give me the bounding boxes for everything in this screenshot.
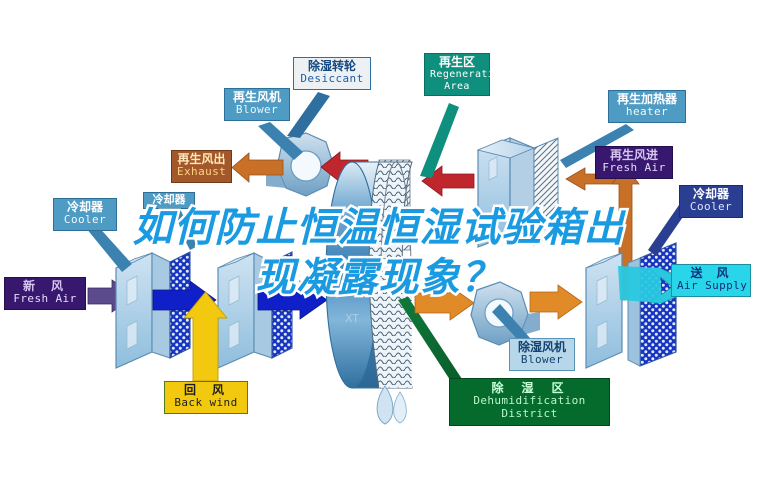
- cooler-unit-3-body: [586, 253, 622, 368]
- callout-regen-fresh-air[interactable]: 再生风进 Fresh Air: [595, 146, 673, 179]
- callout-dehum-district-cn: 除湿区: [454, 382, 605, 395]
- callout-regen-exhaust-cn: 再生风出: [177, 153, 226, 166]
- diagram-canvas: XT: [0, 0, 757, 488]
- regen-heater-unit: [478, 138, 558, 247]
- callout-dehum-blower[interactable]: 除湿风机 Blower: [509, 338, 575, 371]
- callout-dehum-district-en: Dehumidification District: [454, 395, 605, 420]
- callout-cooler-left[interactable]: 冷却器 Cooler: [53, 198, 117, 231]
- callout-desiccant[interactable]: 除湿转轮 Desiccant: [293, 57, 371, 90]
- arrow-dry-air-1: [415, 286, 474, 320]
- callout-back-wind-cn: 回风: [170, 384, 242, 397]
- callout-regen-heater[interactable]: 再生加热器 heater: [608, 90, 686, 123]
- svg-text:XT: XT: [345, 312, 359, 325]
- cooler-unit-3: [628, 243, 676, 366]
- callout-regen-blower[interactable]: 再生风机 Blower: [224, 88, 290, 121]
- callout-back-wind-en: Back wind: [170, 397, 242, 409]
- callout-cooler-left-cn: 冷却器: [59, 201, 111, 214]
- callout-regen-blower-en: Blower: [230, 104, 284, 116]
- callout-regen-area-en: Regeneration Area: [430, 69, 484, 91]
- wheel-dehum-sector: [379, 268, 412, 388]
- callout-regen-heater-cn: 再生加热器: [614, 93, 680, 106]
- condensate-droplet: [377, 386, 406, 424]
- callout-cooler-left-small[interactable]: 冷却器: [143, 192, 195, 209]
- callout-fresh-air-cn: 新风: [10, 280, 80, 293]
- callout-desiccant-en: Desiccant: [299, 73, 365, 85]
- callout-regen-area[interactable]: 再生区 Regeneration Area: [424, 53, 490, 96]
- callout-air-supply-cn: 送风: [677, 267, 745, 280]
- callout-cooler-left-small-cn: 冷却器: [147, 194, 191, 206]
- callout-regen-fresh-air-cn: 再生风进: [601, 149, 667, 162]
- callout-desiccant-cn: 除湿转轮: [299, 60, 365, 73]
- callout-cooler-right-en: Cooler: [685, 201, 737, 213]
- callout-regen-blower-cn: 再生风机: [230, 91, 284, 104]
- callout-dehum-district[interactable]: 除湿区 Dehumidification District: [449, 378, 610, 426]
- callout-dehum-blower-cn: 除湿风机: [515, 341, 569, 354]
- callout-regen-exhaust-en: Exhaust: [177, 166, 226, 178]
- callout-fresh-air[interactable]: 新风 Fresh Air: [4, 277, 86, 310]
- callout-fresh-air-en: Fresh Air: [10, 293, 80, 305]
- dehumidifier-schematic: XT: [0, 0, 757, 488]
- callout-air-supply-en: Air Supply: [677, 280, 745, 292]
- callout-air-supply[interactable]: 送风 Air Supply: [671, 264, 751, 297]
- callout-cooler-right[interactable]: 冷却器 Cooler: [679, 185, 743, 218]
- callout-cooler-right-cn: 冷却器: [685, 188, 737, 201]
- callout-cooler-left-en: Cooler: [59, 214, 111, 226]
- callout-regen-heater-en: heater: [614, 106, 680, 118]
- callout-regen-exhaust[interactable]: 再生风出 Exhaust: [171, 150, 232, 183]
- callout-regen-fresh-air-en: Fresh Air: [601, 162, 667, 174]
- callout-back-wind[interactable]: 回风 Back wind: [164, 381, 248, 414]
- callout-regen-area-cn: 再生区: [430, 56, 484, 69]
- callout-dehum-blower-en: Blower: [515, 354, 569, 366]
